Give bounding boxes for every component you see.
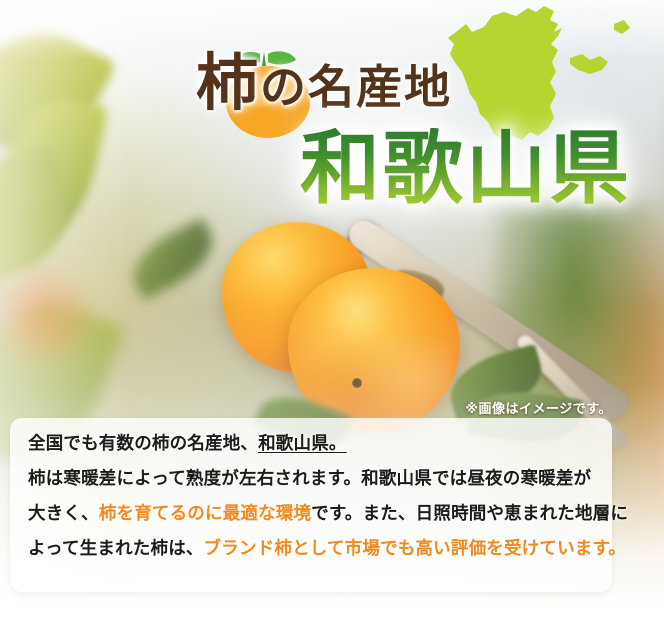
wakayama-prefecture-map-icon [432, 2, 654, 154]
description-line-3: 大きく、柿を育てるのに最適な環境です。また、日照時間や恵まれた地層に [28, 496, 628, 531]
description-line-3-plain-before: 大きく、 [28, 503, 99, 523]
description-line-4-plain-before: よって生まれた柿は、 [28, 538, 204, 558]
description-line-4-highlight: ブランド柿として市場でも高い評価を受けています。 [204, 538, 627, 558]
description-line-2-plain: 柿は寒暖差によって熟度が左右されます。和歌山県では昼夜の寒暖差が [28, 468, 591, 488]
image-disclaimer: ※画像はイメージです。 [465, 398, 612, 417]
description-line-2: 柿は寒暖差によって熟度が左右されます。和歌山県では昼夜の寒暖差が [28, 461, 628, 496]
description-line-1-plain: 全国でも有数の柿の名産地、 [28, 433, 258, 453]
description-text-block: 全国でも有数の柿の名産地、和歌山県。 柿は寒暖差によって熟度が左右されます。和歌… [28, 426, 628, 566]
description-line-1-underlined: 和歌山県。 [258, 433, 347, 453]
description-line-3-plain-after: です。また、日照時間や恵まれた地層に [311, 503, 628, 523]
persimmon-blossom-end [352, 378, 362, 388]
persimmon-wakayama-banner: 柿 の名産地 和歌山県 ※画像はイメージです。 全国でも有数の柿の名産地、和歌山… [0, 0, 664, 643]
description-line-4: よって生まれた柿は、ブランド柿として市場でも高い評価を受けています。 [28, 531, 628, 566]
description-line-1: 全国でも有数の柿の名産地、和歌山県。 [28, 426, 628, 461]
description-line-3-highlight: 柿を育てるのに最適な環境 [99, 503, 311, 523]
